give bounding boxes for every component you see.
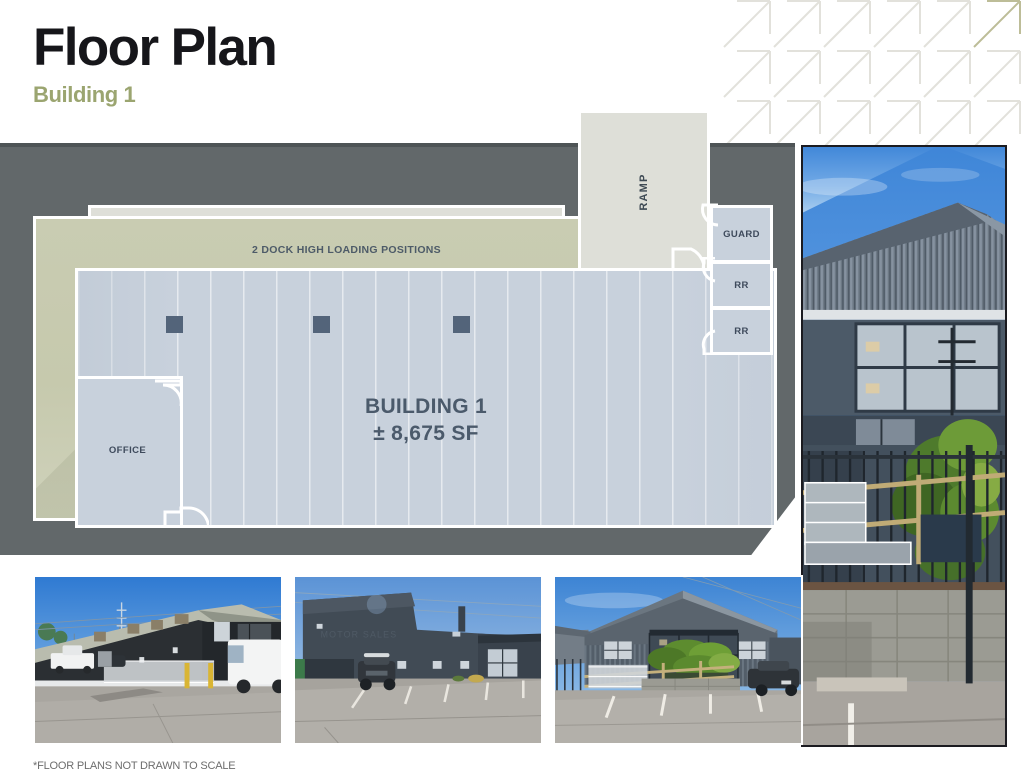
floor-plan-drawing: 2 DOCK HIGH LOADING POSITIONS RAMP OFFIC… [0, 143, 795, 573]
footer-disclaimer: *FLOOR PLANS NOT DRAWN TO SCALE [33, 760, 235, 772]
restroom-1: RR [710, 261, 773, 309]
restroom-2: RR [710, 307, 773, 355]
structural-column [313, 316, 330, 333]
svg-text:MOTOR SALES: MOTOR SALES [321, 630, 398, 640]
building-area-label: BUILDING 1 ± 8,675 SF [365, 395, 487, 446]
ramp-area: RAMP [578, 110, 710, 274]
restroom-1-door-icon [694, 257, 716, 283]
building-floor-area: OFFICE BUILDING 1 ± 8,675 SF [75, 268, 777, 528]
decorative-arrow-pattern [723, 0, 1023, 150]
photo-building-facade-suv: MOTOR SALES [293, 575, 543, 745]
photo-warehouse-parking-lot [33, 575, 283, 745]
office-room: OFFICE [75, 376, 183, 528]
building-name: BUILDING 1 [365, 395, 487, 419]
structural-column [166, 316, 183, 333]
building-square-footage: ± 8,675 SF [365, 422, 487, 446]
structural-column [453, 316, 470, 333]
restroom-2-door-icon [694, 329, 716, 355]
guard-door-icon [697, 203, 719, 227]
office-label: OFFICE [75, 445, 180, 456]
photo-warehouse-front-greenery [553, 575, 803, 745]
page-header: Floor Plan Building 1 [33, 20, 276, 108]
ramp-label: RAMP [638, 173, 650, 210]
photo-building-exterior-tall [801, 145, 1007, 747]
dock-high-loading-label: 2 DOCK HIGH LOADING POSITIONS [36, 244, 657, 256]
page-subtitle: Building 1 [33, 82, 276, 108]
page-title: Floor Plan [33, 20, 276, 76]
office-door-top-icon [153, 379, 183, 409]
office-door-bottom-icon [163, 506, 209, 528]
guard-room: GUARD [710, 205, 773, 263]
guard-restroom-block: GUARD RR RR [710, 205, 773, 385]
